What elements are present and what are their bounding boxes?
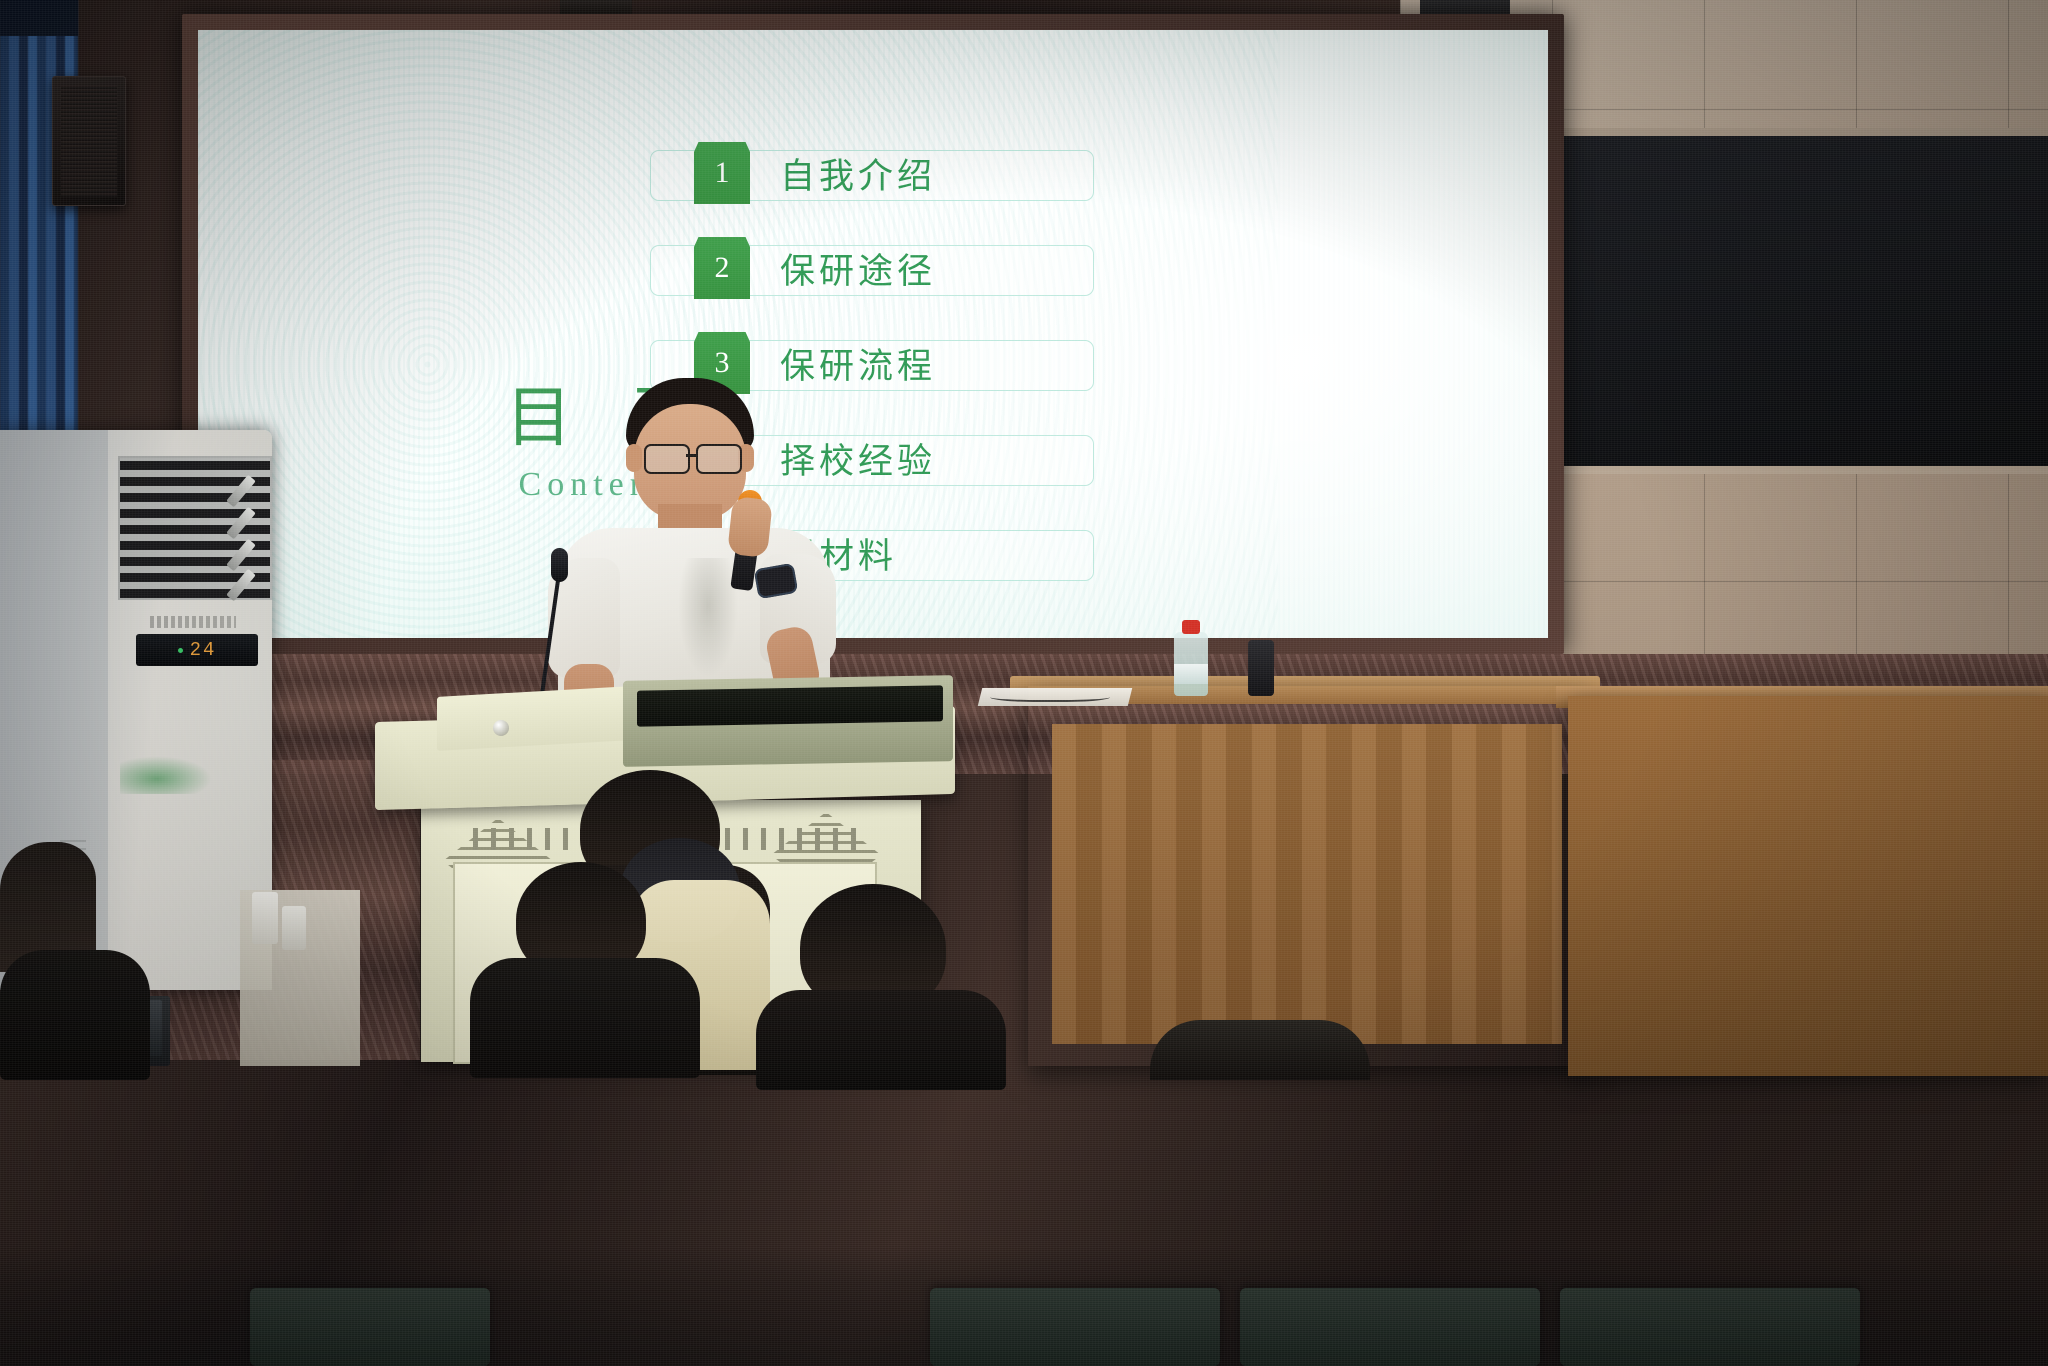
gooseneck-capsule	[551, 548, 568, 582]
projection-screen: 目 录 Contents 1 自我介绍 2 保研途径	[198, 30, 1548, 638]
water-bottle[interactable]	[1172, 620, 1210, 696]
audience-shoulders	[756, 990, 1006, 1090]
paper-cup[interactable]	[282, 906, 306, 950]
toc-label: 保研途径	[780, 243, 936, 293]
curtain-rail	[0, 0, 78, 36]
lectern-monitor-screen	[637, 685, 943, 726]
bottle-label	[1174, 664, 1208, 684]
ac-decal-icon	[120, 756, 212, 794]
chair-back[interactable]	[1240, 1288, 1540, 1366]
podium-front-panel	[1052, 724, 1562, 1044]
eyeglasses-bridge	[686, 454, 698, 457]
toc-number-badge: 2	[694, 237, 750, 299]
shirt-highlight	[678, 558, 738, 678]
toc-item-2: 2 保研途径	[650, 237, 1100, 295]
audience-shoulders	[0, 950, 150, 1080]
desk-cable	[990, 690, 1110, 702]
audience-shoulders	[470, 958, 700, 1078]
wall-speaker	[52, 76, 126, 206]
right-window	[1492, 128, 2048, 474]
ac-brand-logo	[150, 616, 236, 628]
toc-label: 自我介绍	[780, 148, 936, 198]
audience-shoulders	[1150, 1020, 1370, 1080]
presentation-remote[interactable]	[1248, 640, 1274, 696]
back-wooden-counter	[1568, 696, 2048, 1076]
ac-power-indicator-icon	[178, 648, 183, 653]
eyeglasses-lens-left	[644, 444, 690, 474]
chair-back[interactable]	[1560, 1288, 1860, 1366]
projection-screen-frame: 目 录 Contents 1 自我介绍 2 保研途径	[182, 14, 1564, 654]
chair-back[interactable]	[250, 1288, 490, 1366]
slide-contents-page: 目 录 Contents 1 自我介绍 2 保研途径	[198, 30, 1548, 638]
bottle-cap	[1182, 620, 1200, 634]
student-presenter	[548, 378, 838, 708]
eyeglasses-lens-right	[696, 444, 742, 474]
paper-cup[interactable]	[252, 892, 278, 944]
lecture-hall-photo: 目 录 Contents 1 自我介绍 2 保研途径	[0, 0, 2048, 1366]
ac-display-panel[interactable]: 24	[136, 634, 258, 666]
ac-temperature-readout: 24	[190, 639, 217, 661]
toc-number-badge: 1	[694, 142, 750, 204]
chair-back[interactable]	[930, 1288, 1220, 1366]
toc-item-1: 1 自我介绍	[650, 142, 1100, 200]
presenter-ear-left	[626, 444, 642, 472]
presenter-hand	[727, 496, 773, 558]
lectern-lock-icon[interactable]	[493, 720, 509, 736]
